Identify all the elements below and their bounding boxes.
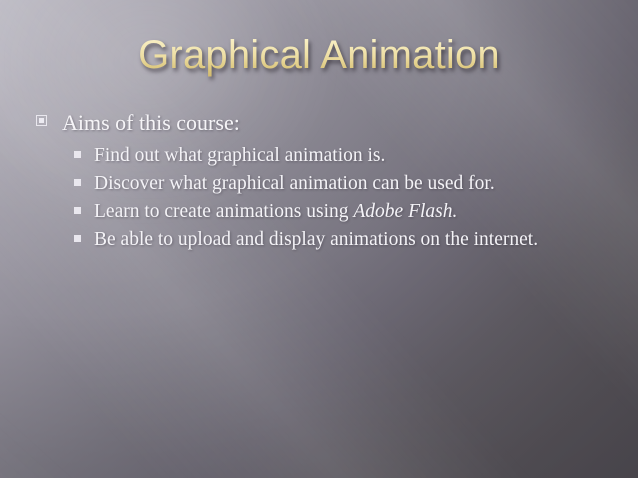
- sub-bullet-list: Find out what graphical animation is. Di…: [36, 142, 616, 253]
- bullet-text-level2: Discover what graphical animation can be…: [94, 170, 495, 197]
- bullet-text-segment: Be able to upload and display animations…: [94, 229, 538, 250]
- bullet-text-segment: Learn to create animations using: [94, 201, 353, 222]
- bullet-text-segment: Find out what graphical animation is.: [94, 145, 385, 166]
- small-filled-square-bullet-icon: [36, 170, 94, 186]
- bullet-text-emphasis: Adobe Flash.: [353, 201, 457, 222]
- slide-title: Graphical Animation: [138, 30, 500, 80]
- list-item: Learn to create animations using Adobe F…: [36, 198, 616, 225]
- small-filled-square-bullet-icon: [36, 226, 94, 242]
- list-item: Find out what graphical animation is.: [36, 142, 616, 169]
- small-filled-square-bullet-icon: [36, 198, 94, 214]
- small-filled-square-bullet-icon: [36, 142, 94, 158]
- slide-body-content: Aims of this course: Find out what graph…: [36, 108, 616, 254]
- list-item: Be able to upload and display animations…: [36, 226, 616, 253]
- bullet-item-level1: Aims of this course:: [36, 108, 616, 138]
- slide-title-container: Graphical Animation: [0, 30, 638, 80]
- bullet-text-level2: Learn to create animations using Adobe F…: [94, 198, 457, 225]
- bullet-text-level1: Aims of this course:: [62, 108, 240, 138]
- presentation-slide: Graphical Animation Aims of this course:…: [0, 0, 638, 478]
- bullet-text-level2: Find out what graphical animation is.: [94, 142, 385, 169]
- bullet-text-segment: Discover what graphical animation can be…: [94, 173, 495, 194]
- list-item: Discover what graphical animation can be…: [36, 170, 616, 197]
- bullet-text-level2: Be able to upload and display animations…: [94, 226, 538, 253]
- square-outline-filled-bullet-icon: [36, 108, 62, 126]
